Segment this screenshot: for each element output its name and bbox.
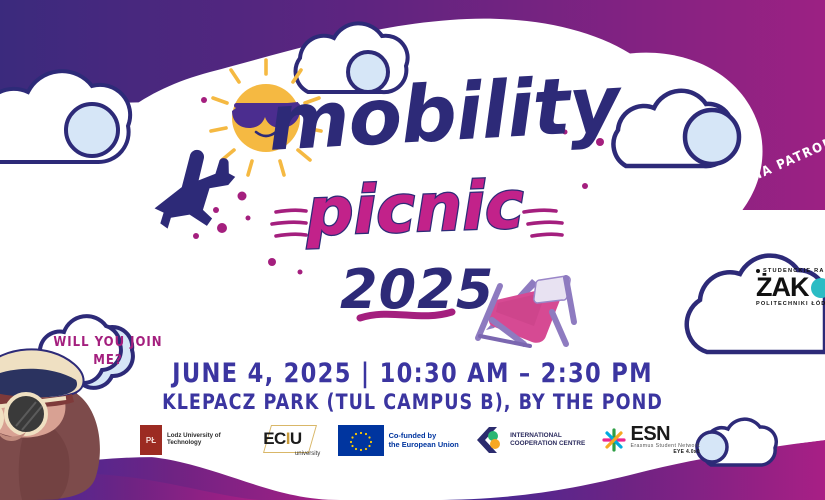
event-venue: KLEPACZ PARK (TUL CAMPUS B), BY THE POND	[29, 390, 796, 414]
eciu-subtitle: university	[295, 451, 320, 457]
eu-line1: Co-funded by	[389, 431, 459, 440]
icc-line2: COOPERATION CENTRE	[510, 440, 585, 448]
esn-tagline: EYE 4.0x0	[631, 449, 700, 455]
zak-bottom-text: POLITECHNIKI ŁÓDZKIEJ	[756, 301, 825, 307]
logo-esn: ESN Erasmus Student Network EYE 4.0x0	[602, 425, 700, 455]
eu-funding-text: Co-funded by the European Union	[389, 431, 459, 450]
zak-circle-icon	[811, 278, 825, 298]
tul-crest-icon: PŁ	[140, 425, 162, 455]
partner-logo-strip: PŁ Lodz University of Technology ECIU un…	[140, 418, 700, 462]
esn-wordmark: ESN	[631, 425, 700, 443]
eciu-part-c: U	[290, 429, 302, 448]
logo-international-cooperation-centre: INTERNATIONAL COOPERATION CENTRE	[475, 425, 585, 455]
esn-star-icon	[602, 428, 626, 452]
eciu-part-a: EC	[263, 429, 285, 448]
eu-flag-icon	[338, 425, 384, 456]
eciu-wordmark: ECIU	[263, 429, 301, 449]
logo-lodz-university: PŁ Lodz University of Technology	[140, 425, 245, 455]
tul-name-text: Lodz University of Technology	[167, 433, 245, 447]
zak-radio-logo: STUDENCKIE RADIO ŻAK POLITECHNIKI ŁÓDZKI…	[756, 268, 825, 307]
event-poster: mobility picnic 2025 JUNE 4, 2025 | 10:3…	[0, 0, 825, 500]
speech-bubble-text: WILL YOU JOIN ME?	[48, 334, 168, 369]
icc-line1: INTERNATIONAL	[510, 432, 585, 440]
esn-text-block: ESN Erasmus Student Network EYE 4.0x0	[631, 425, 700, 455]
zak-wordmark: ŻAK	[756, 274, 809, 301]
icc-mark-icon	[475, 425, 505, 455]
logo-eciu-university: ECIU university	[261, 424, 321, 456]
headline-picnic: picnic	[299, 174, 531, 245]
tul-crest-mark: PŁ	[146, 436, 156, 445]
logo-european-union: Co-funded by the European Union	[338, 425, 459, 456]
headline-mobility: mobility	[266, 69, 590, 161]
eu-line2: the European Union	[389, 440, 459, 449]
icc-name-text: INTERNATIONAL COOPERATION CENTRE	[510, 432, 585, 449]
headline-year: 2025	[340, 258, 490, 321]
